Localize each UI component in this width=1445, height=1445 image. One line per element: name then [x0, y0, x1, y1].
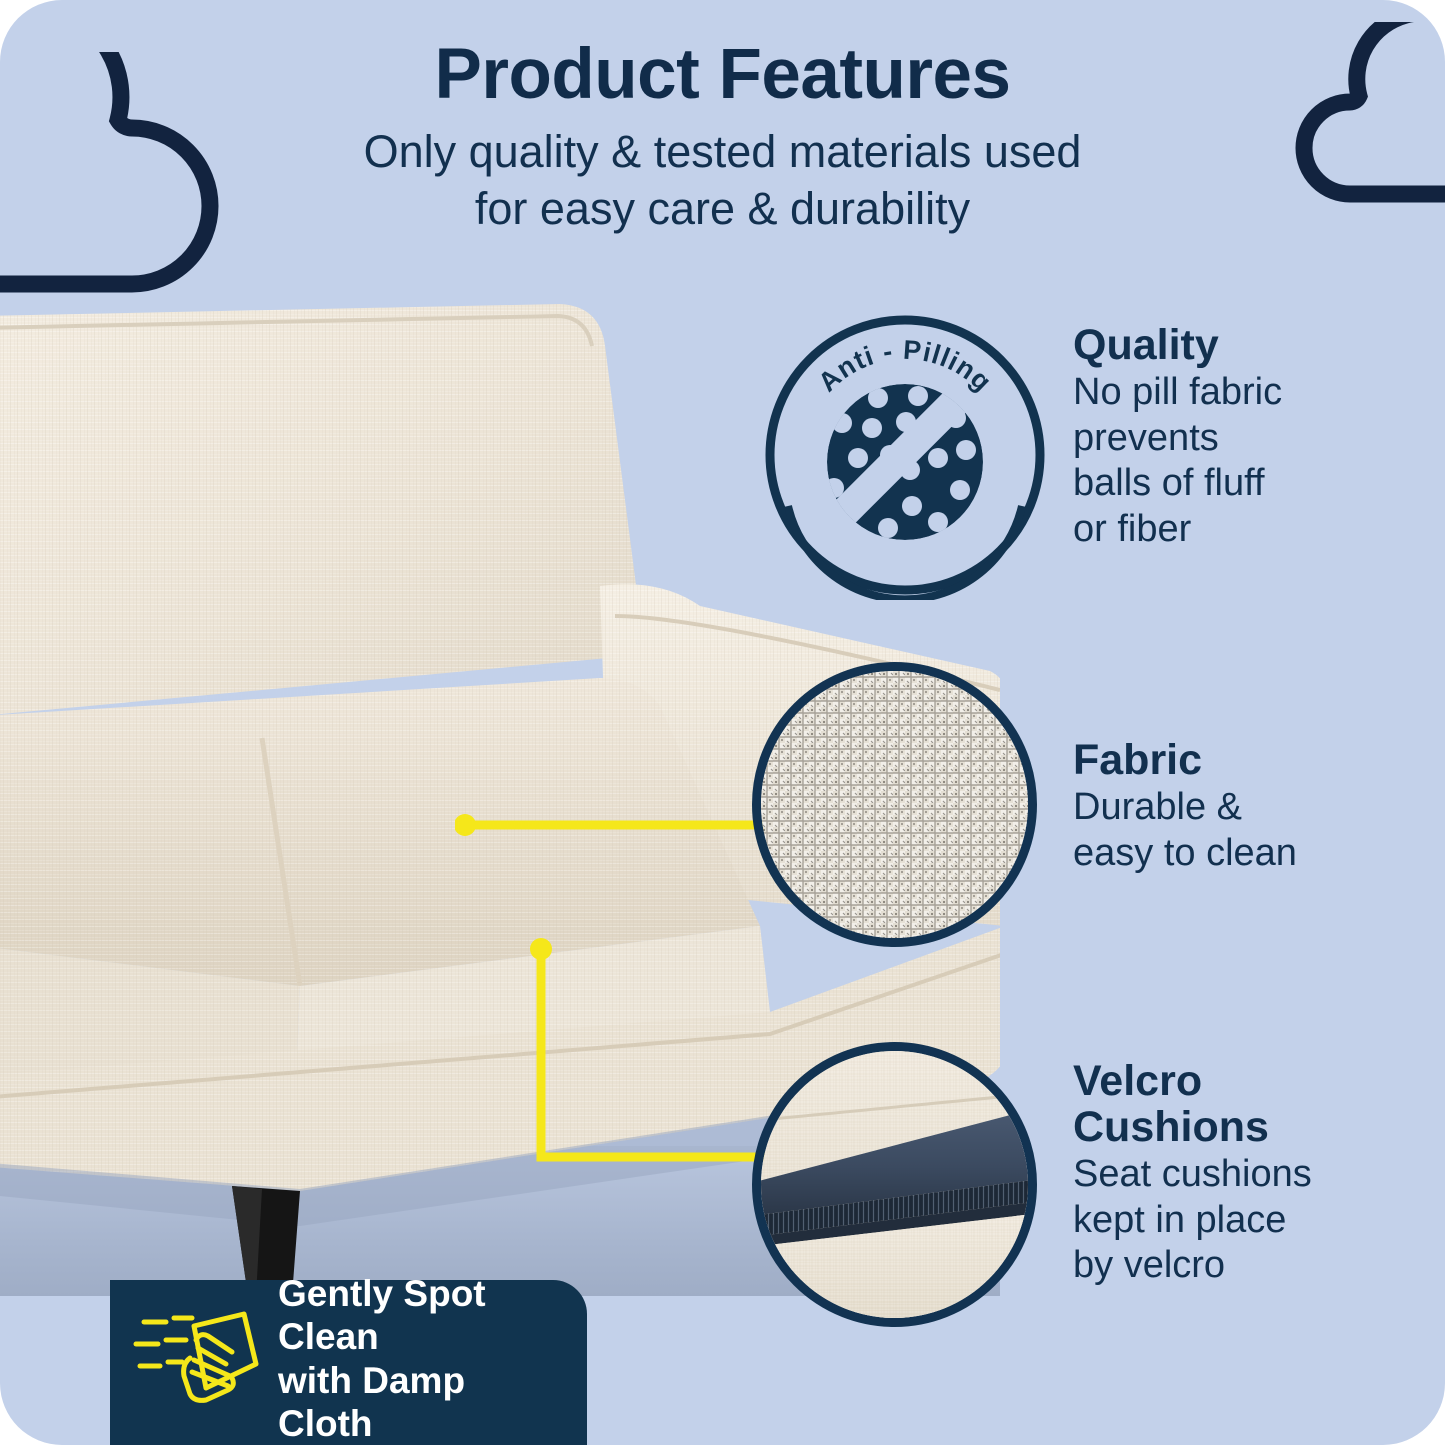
quality-line-2: prevents: [1073, 417, 1219, 459]
feature-text-velcro: Velcro Cushions Seat cushions kept in pl…: [1073, 1058, 1423, 1289]
fabric-line-2: easy to clean: [1073, 832, 1297, 874]
page-title: Product Features: [0, 38, 1445, 113]
feature-heading-quality: Quality: [1073, 322, 1413, 368]
velcro-line-1: Seat cushions: [1073, 1153, 1312, 1195]
fabric-line-1: Durable &: [1073, 786, 1242, 828]
quality-line-4: or fiber: [1073, 508, 1191, 550]
feature-heading-velcro: Velcro Cushions: [1073, 1058, 1423, 1150]
velcro-closeup-circle: [752, 1042, 1037, 1327]
feature-body-quality: No pill fabric prevents balls of fluff o…: [1073, 370, 1413, 552]
velcro-line-2: kept in place: [1073, 1199, 1286, 1241]
hand-wiping-cloth-icon: [132, 1302, 264, 1415]
infographic-canvas: Product Features Only quality & tested m…: [0, 0, 1445, 1445]
feature-text-quality: Quality No pill fabric prevents balls of…: [1073, 322, 1413, 552]
subtitle-line-1: Only quality & tested materials used: [364, 126, 1082, 177]
care-badge-text: Gently Spot Clean with Damp Cloth: [278, 1272, 569, 1445]
anti-pilling-icon: Anti - Pilling: [760, 310, 1050, 600]
feature-text-fabric: Fabric Durable & easy to clean: [1073, 737, 1418, 876]
feature-heading-fabric: Fabric: [1073, 737, 1418, 783]
velcro-heading-line-1: Velcro: [1073, 1057, 1202, 1105]
velcro-heading-line-2: Cushions: [1073, 1103, 1269, 1151]
header-block: Product Features Only quality & tested m…: [0, 38, 1445, 238]
page-subtitle: Only quality & tested materials used for…: [0, 123, 1445, 238]
feature-body-velcro: Seat cushions kept in place by velcro: [1073, 1152, 1423, 1289]
care-instruction-badge: Gently Spot Clean with Damp Cloth: [110, 1280, 587, 1445]
velcro-line-3: by velcro: [1073, 1244, 1225, 1286]
care-line-1: Gently Spot Clean: [278, 1273, 486, 1357]
subtitle-line-2: for easy care & durability: [475, 183, 970, 234]
quality-line-1: No pill fabric: [1073, 371, 1282, 413]
quality-line-3: balls of fluff: [1073, 462, 1265, 504]
fabric-closeup-circle: [752, 662, 1037, 947]
feature-body-fabric: Durable & easy to clean: [1073, 785, 1418, 876]
care-line-2: with Damp Cloth: [278, 1360, 465, 1444]
